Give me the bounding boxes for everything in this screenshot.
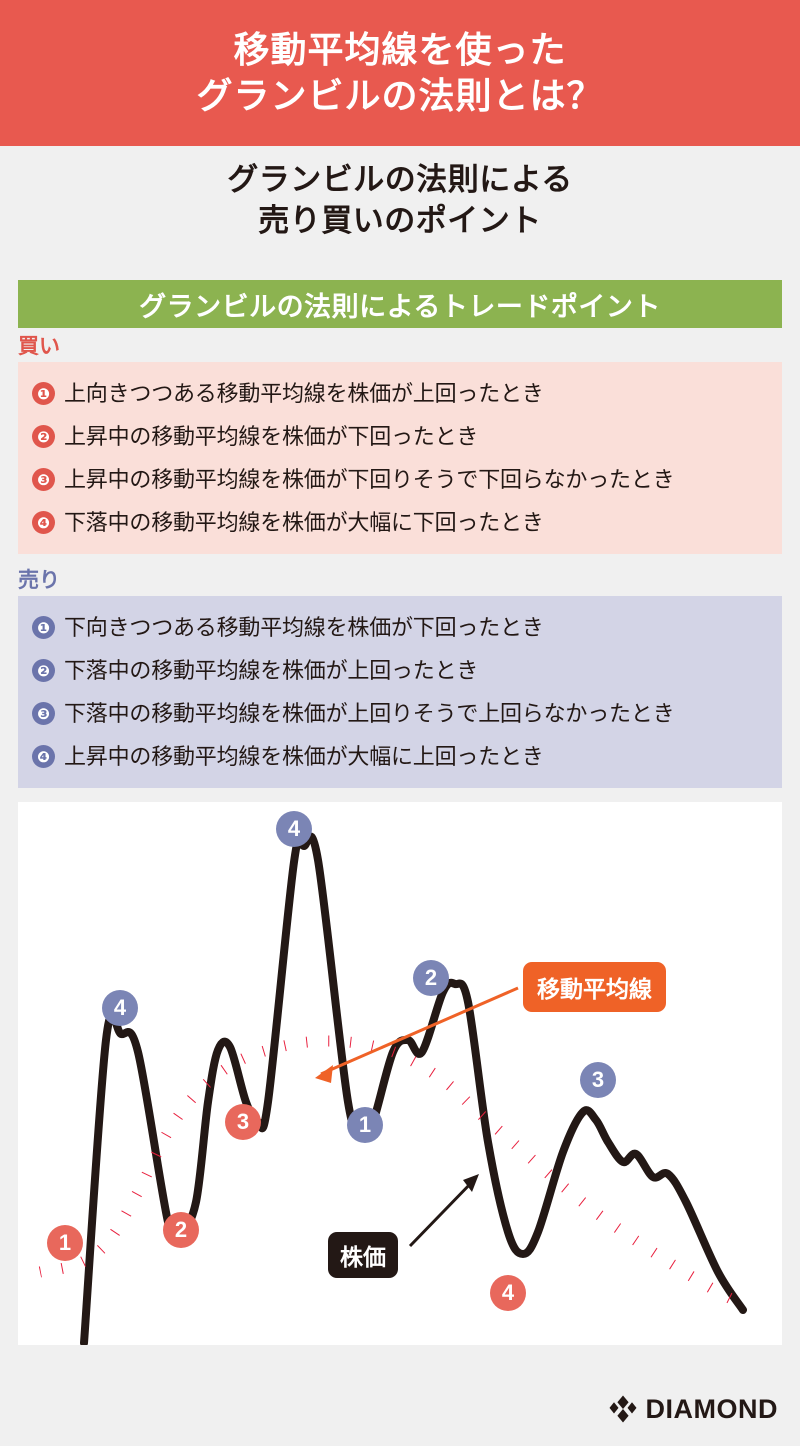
sell-section-label: 売り — [18, 570, 60, 591]
bullet-number: ❶ — [32, 382, 55, 405]
list-item-text: 下落中の移動平均線を株価が大幅に下回ったとき — [64, 512, 544, 534]
bullet-number: ❹ — [32, 745, 55, 768]
subtitle-block: グランビルの法則による 売り買いのポイント — [0, 160, 800, 242]
list-item: ❶ 上向きつつある移動平均線を株価が上回ったとき — [18, 372, 782, 415]
diamond-logo: DIAMOND — [608, 1394, 779, 1424]
subtitle-line-1: グランビルの法則による — [0, 160, 800, 201]
table-header-bar: グランビルの法則によるトレードポイント — [18, 280, 782, 328]
header-title-line-1: 移動平均線を使った — [233, 28, 566, 72]
list-item-text: 上向きつつある移動平均線を株価が上回ったとき — [64, 383, 544, 405]
list-item: ❹ 下落中の移動平均線を株価が大幅に下回ったとき — [18, 501, 782, 544]
moving-average-callout: 移動平均線 — [523, 962, 666, 1012]
list-item: ❸ 下落中の移動平均線を株価が上回りそうで上回らなかったとき — [18, 692, 782, 735]
moving-average-arrow-head — [315, 1065, 333, 1083]
bullet-number: ❸ — [32, 468, 55, 491]
table-header-label: グランビルの法則によるトレードポイント — [139, 285, 661, 324]
bullet-number: ❷ — [32, 425, 55, 448]
bullet-number: ❹ — [32, 511, 55, 534]
list-item: ❷ 上昇中の移動平均線を株価が下回ったとき — [18, 415, 782, 458]
chart-panel: 443213124 移動平均線 株価 — [18, 802, 782, 1345]
bullet-number: ❷ — [32, 659, 55, 682]
moving-average-arrow-line — [321, 988, 518, 1074]
header-title-line-2: グランビルの法則とは？ — [196, 74, 603, 118]
bullet-number: ❸ — [32, 702, 55, 725]
chart-line-stock-price — [84, 836, 743, 1343]
list-item: ❶ 下向きつつある移動平均線を株価が下回ったとき — [18, 606, 782, 649]
list-item-text: 下落中の移動平均線を株価が上回りそうで上回らなかったとき — [64, 703, 674, 725]
buy-section-label: 買い — [18, 336, 60, 357]
buy-list-panel: ❶ 上向きつつある移動平均線を株価が上回ったとき ❷ 上昇中の移動平均線を株価が… — [18, 362, 782, 554]
list-item-text: 上昇中の移動平均線を株価が下回ったとき — [64, 426, 478, 448]
chart-marker-blue-1: 1 — [347, 1107, 383, 1143]
chart-marker-blue-4: 4 — [102, 990, 138, 1026]
list-item: ❹ 上昇中の移動平均線を株価が大幅に上回ったとき — [18, 735, 782, 778]
diamond-logo-icon — [608, 1394, 638, 1424]
stock-price-arrow-line — [410, 1180, 474, 1246]
list-item: ❸ 上昇中の移動平均線を株価が下回りそうで下回らなかったとき — [18, 458, 782, 501]
chart-marker-blue-4: 4 — [276, 811, 312, 847]
sell-list-panel: ❶ 下向きつつある移動平均線を株価が下回ったとき ❷ 下落中の移動平均線を株価が… — [18, 596, 782, 788]
chart-marker-blue-3: 3 — [580, 1062, 616, 1098]
stock-price-callout: 株価 — [328, 1232, 398, 1278]
subtitle-line-2: 売り買いのポイント — [0, 201, 800, 242]
chart-marker-red-1: 1 — [47, 1225, 83, 1261]
header-banner: 移動平均線を使った グランビルの法則とは？ — [0, 0, 800, 146]
infographic-page: 移動平均線を使った グランビルの法則とは？ グランビルの法則による 売り買いのポ… — [0, 0, 800, 1446]
bullet-number: ❶ — [32, 616, 55, 639]
list-item-text: 上昇中の移動平均線を株価が大幅に上回ったとき — [64, 746, 544, 768]
chart-marker-blue-2: 2 — [413, 960, 449, 996]
list-item-text: 下向きつつある移動平均線を株価が下回ったとき — [64, 617, 544, 639]
list-item-text: 上昇中の移動平均線を株価が下回りそうで下回らなかったとき — [64, 469, 674, 491]
chart-marker-red-2: 2 — [163, 1212, 199, 1248]
chart-marker-red-3: 3 — [225, 1104, 261, 1140]
chart-marker-red-4: 4 — [490, 1275, 526, 1311]
diamond-logo-text: DIAMOND — [646, 1396, 779, 1423]
list-item-text: 下落中の移動平均線を株価が上回ったとき — [64, 660, 478, 682]
list-item: ❷ 下落中の移動平均線を株価が上回ったとき — [18, 649, 782, 692]
chart-svg — [18, 802, 782, 1345]
